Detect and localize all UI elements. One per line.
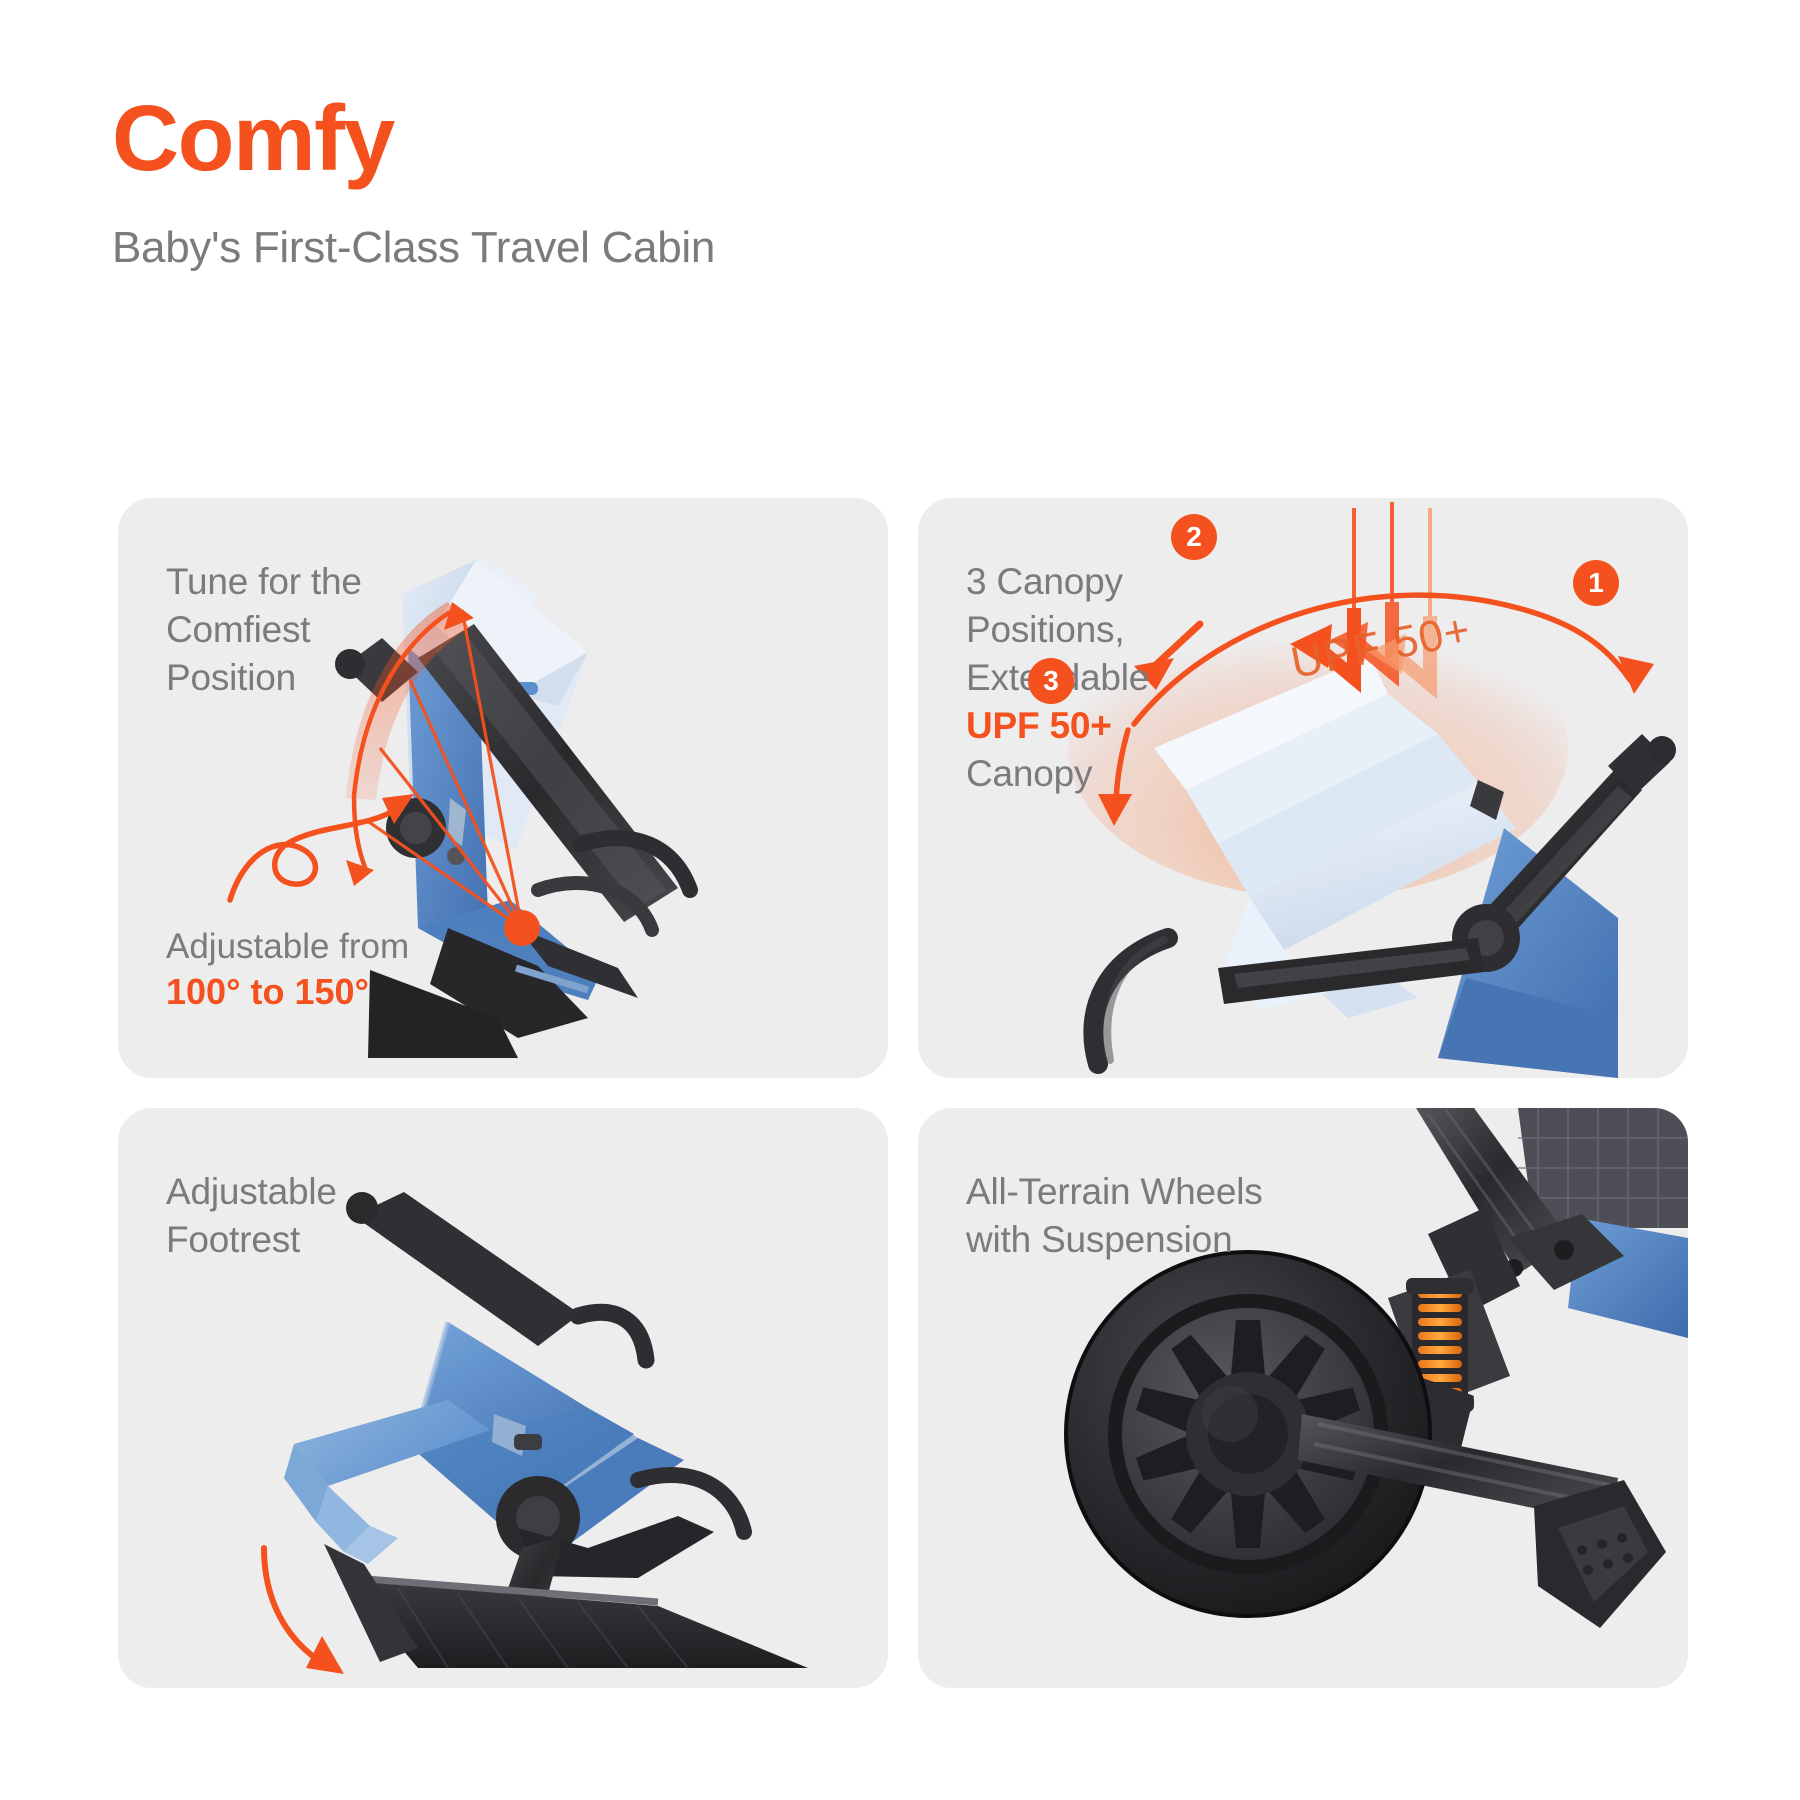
feature-card-grid: Tune for the Comfiest Position Adjustabl…: [118, 498, 1688, 1688]
feature-card-recline[interactable]: Tune for the Comfiest Position Adjustabl…: [118, 498, 888, 1078]
canopy-position-badge-3: 3: [1028, 658, 1074, 704]
header: Comfy Baby's First-Class Travel Cabin: [112, 92, 715, 273]
page-title: Comfy: [112, 92, 715, 185]
canopy-position-badge-1: 1: [1573, 560, 1619, 606]
feature-card-footrest[interactable]: Adjustable Footrest: [118, 1108, 888, 1688]
feature-card-wheels[interactable]: All-Terrain Wheels with Suspension: [918, 1108, 1688, 1688]
page-subtitle: Baby's First-Class Travel Cabin: [112, 223, 715, 273]
stroller-wheel-image: [918, 1108, 1688, 1688]
card-recline-sub-label: Adjustable from: [166, 927, 409, 966]
card-recline-subtext: Adjustable from 100° to 150°: [166, 924, 409, 1016]
canopy-position-badge-2: 2: [1171, 514, 1217, 560]
feature-card-canopy[interactable]: UPF 50+ 1 2 3 3 Canopy Positions, Extend…: [918, 498, 1688, 1078]
stroller-footrest-image: [118, 1108, 888, 1688]
infographic-page: Comfy Baby's First-Class Travel Cabin: [0, 0, 1800, 1800]
card-recline-angle-range: 100° to 150°: [166, 969, 409, 1016]
